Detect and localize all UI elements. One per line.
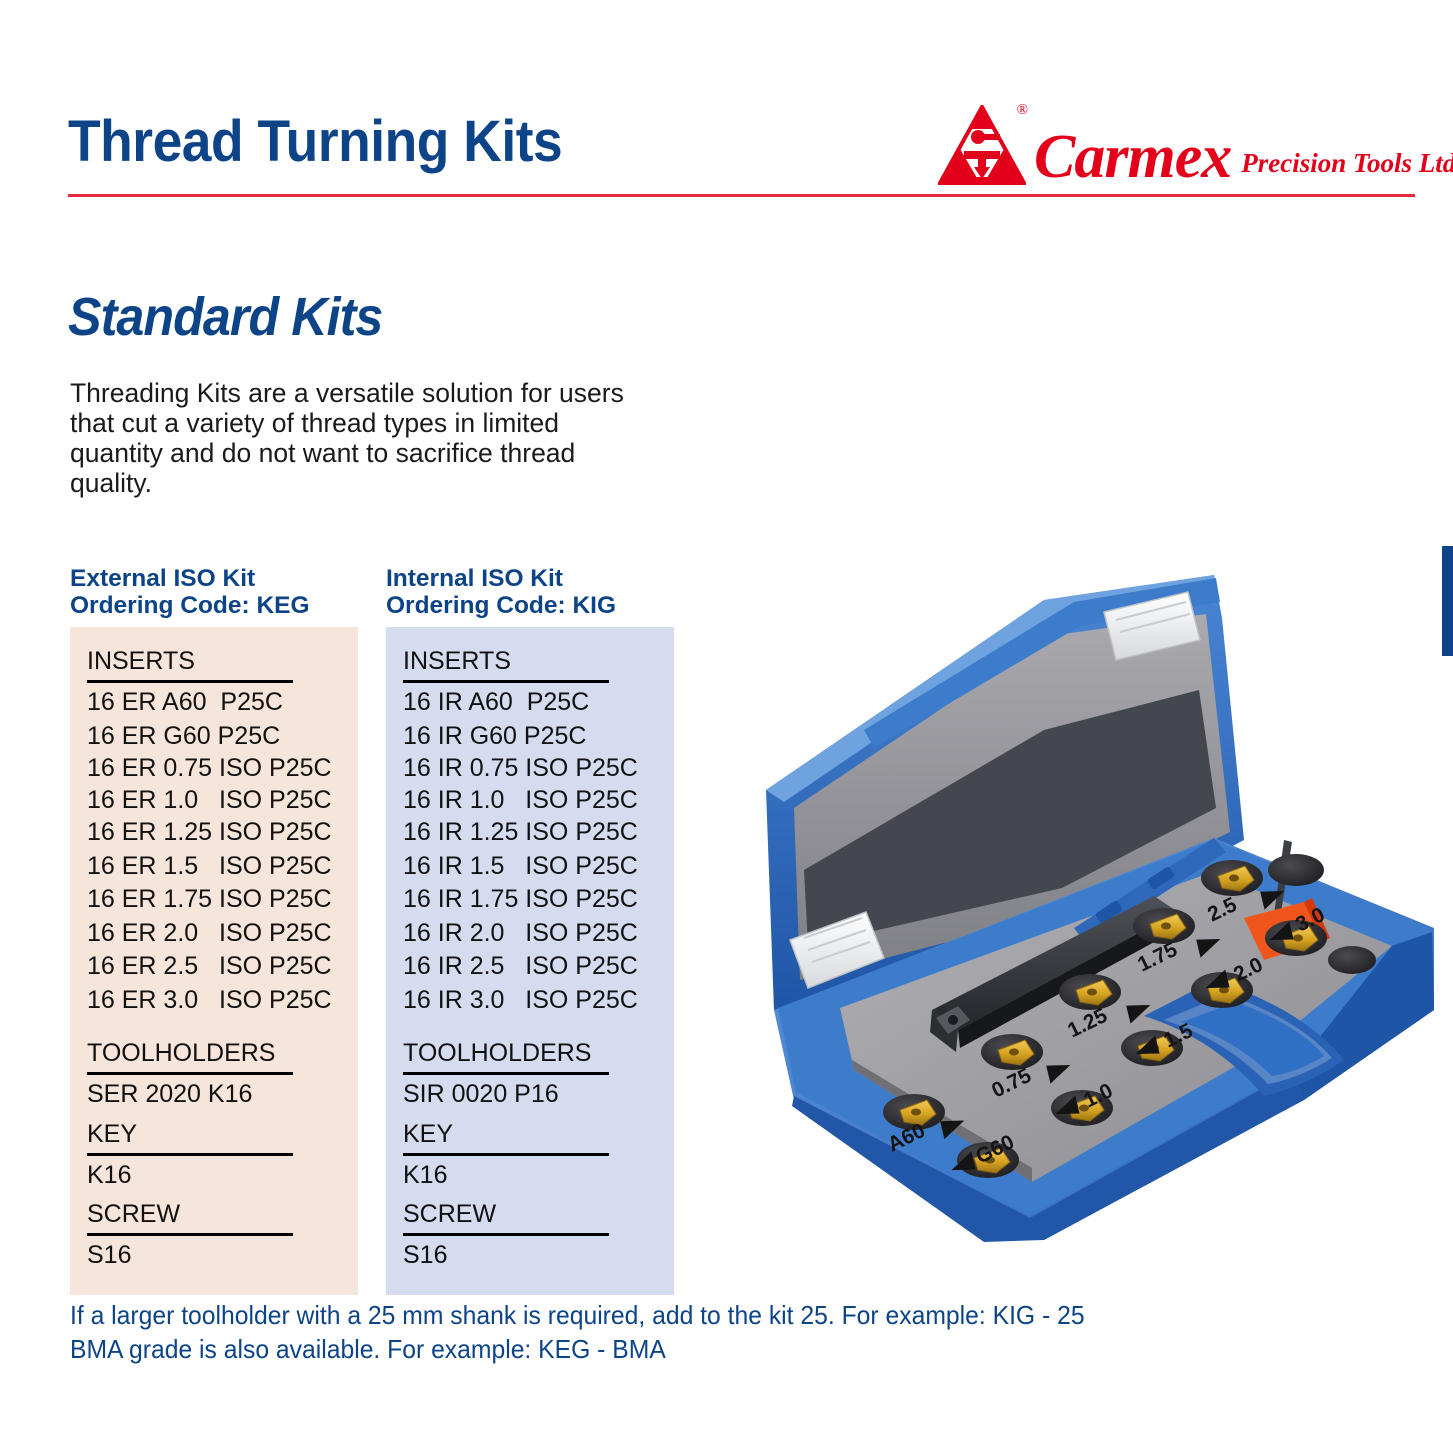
table-row: 16 IR 3.0 ISO P25C bbox=[403, 984, 664, 1018]
page-title: Thread Turning Kits bbox=[68, 108, 562, 175]
table-row: SIR 0020 P16 bbox=[403, 1078, 664, 1112]
table-row: 16 IR 2.0 ISO P25C bbox=[403, 917, 664, 951]
table-row: SER 2020 K16 bbox=[87, 1078, 348, 1112]
kit-heading-internal: Internal ISO Kit Ordering Code: KIG bbox=[386, 565, 674, 619]
section-title: Standard Kits bbox=[68, 286, 382, 348]
table-row: 16 ER 2.5 ISO P25C bbox=[87, 950, 348, 984]
section-label-toolholders: TOOLHOLDERS bbox=[403, 1031, 664, 1070]
table-row: 16 IR 2.5 ISO P25C bbox=[403, 950, 664, 984]
table-row: S16 bbox=[87, 1239, 348, 1273]
table-row: 16 ER 0.75 ISO P25C bbox=[87, 753, 348, 785]
table-row: 16 IR 1.25 ISO P25C bbox=[403, 816, 664, 850]
section-label-inserts: INSERTS bbox=[87, 639, 348, 678]
table-row: K16 bbox=[87, 1159, 348, 1193]
table-row: 16 IR A60 P25C bbox=[403, 686, 664, 720]
kit-panel-internal: INSERTS 16 IR A60 P25C 16 IR G60 P25C 16… bbox=[386, 627, 674, 1295]
section-label-screw: SCREW bbox=[403, 1192, 664, 1231]
product-photo-thread-turning-kit-case: A60 G60 0.75 1.0 1.25 1.5 1.75 2.0 2.5 bbox=[744, 540, 1453, 1280]
table-row: 16 IR 1.75 ISO P25C bbox=[403, 883, 664, 917]
kit-column-external: External ISO Kit Ordering Code: KEG INSE… bbox=[70, 565, 358, 1295]
section-label-screw: SCREW bbox=[87, 1192, 348, 1231]
table-row: 16 ER A60 P25C bbox=[87, 686, 348, 720]
table-row: 16 ER 2.0 ISO P25C bbox=[87, 917, 348, 951]
section-label-inserts: INSERTS bbox=[403, 639, 664, 678]
kit-panel-external: INSERTS 16 ER A60 P25C 16 ER G60 P25C 16… bbox=[70, 627, 358, 1295]
section-rule bbox=[403, 1233, 609, 1236]
section-label-toolholders: TOOLHOLDERS bbox=[87, 1031, 348, 1070]
table-row: 16 ER 1.25 ISO P25C bbox=[87, 816, 348, 850]
table-row: S16 bbox=[403, 1239, 664, 1273]
footnote-text: If a larger toolholder with a 25 mm shan… bbox=[70, 1298, 1085, 1366]
section-rule bbox=[403, 1153, 609, 1156]
registered-trademark-icon: ® bbox=[1017, 103, 1028, 118]
section-rule bbox=[87, 1153, 293, 1156]
table-row: 16 IR 0.75 ISO P25C bbox=[403, 753, 664, 785]
carmex-logo: ® Carmex Precision Tools Ltd. bbox=[938, 95, 1453, 187]
section-rule bbox=[87, 1072, 293, 1075]
table-row: 16 ER 1.5 ISO P25C bbox=[87, 850, 348, 884]
header-divider bbox=[68, 194, 1415, 197]
section-rule bbox=[87, 680, 293, 683]
brand-name: Carmex bbox=[1034, 128, 1231, 187]
brand-tagline: Precision Tools Ltd. bbox=[1241, 148, 1453, 179]
table-row: 16 IR 1.5 ISO P25C bbox=[403, 850, 664, 884]
section-rule bbox=[87, 1233, 293, 1236]
section-intro-text: Threading Kits are a versatile solution … bbox=[70, 378, 630, 498]
table-row: 16 IR 1.0 ISO P25C bbox=[403, 785, 664, 817]
section-rule bbox=[403, 1072, 609, 1075]
kit-column-internal: Internal ISO Kit Ordering Code: KIG INSE… bbox=[386, 565, 674, 1295]
table-row: K16 bbox=[403, 1159, 664, 1193]
table-row: 16 IR G60 P25C bbox=[403, 720, 664, 754]
table-row: 16 ER 3.0 ISO P25C bbox=[87, 984, 348, 1018]
section-label-key: KEY bbox=[87, 1112, 348, 1151]
table-row: 16 ER 1.75 ISO P25C bbox=[87, 883, 348, 917]
carmex-triangle-logo-icon: ® bbox=[938, 105, 1026, 187]
table-row: 16 ER 1.0 ISO P25C bbox=[87, 785, 348, 817]
section-label-key: KEY bbox=[403, 1112, 664, 1151]
section-rule bbox=[403, 680, 609, 683]
table-row: 16 ER G60 P25C bbox=[87, 720, 348, 754]
kit-heading-external: External ISO Kit Ordering Code: KEG bbox=[70, 565, 358, 619]
